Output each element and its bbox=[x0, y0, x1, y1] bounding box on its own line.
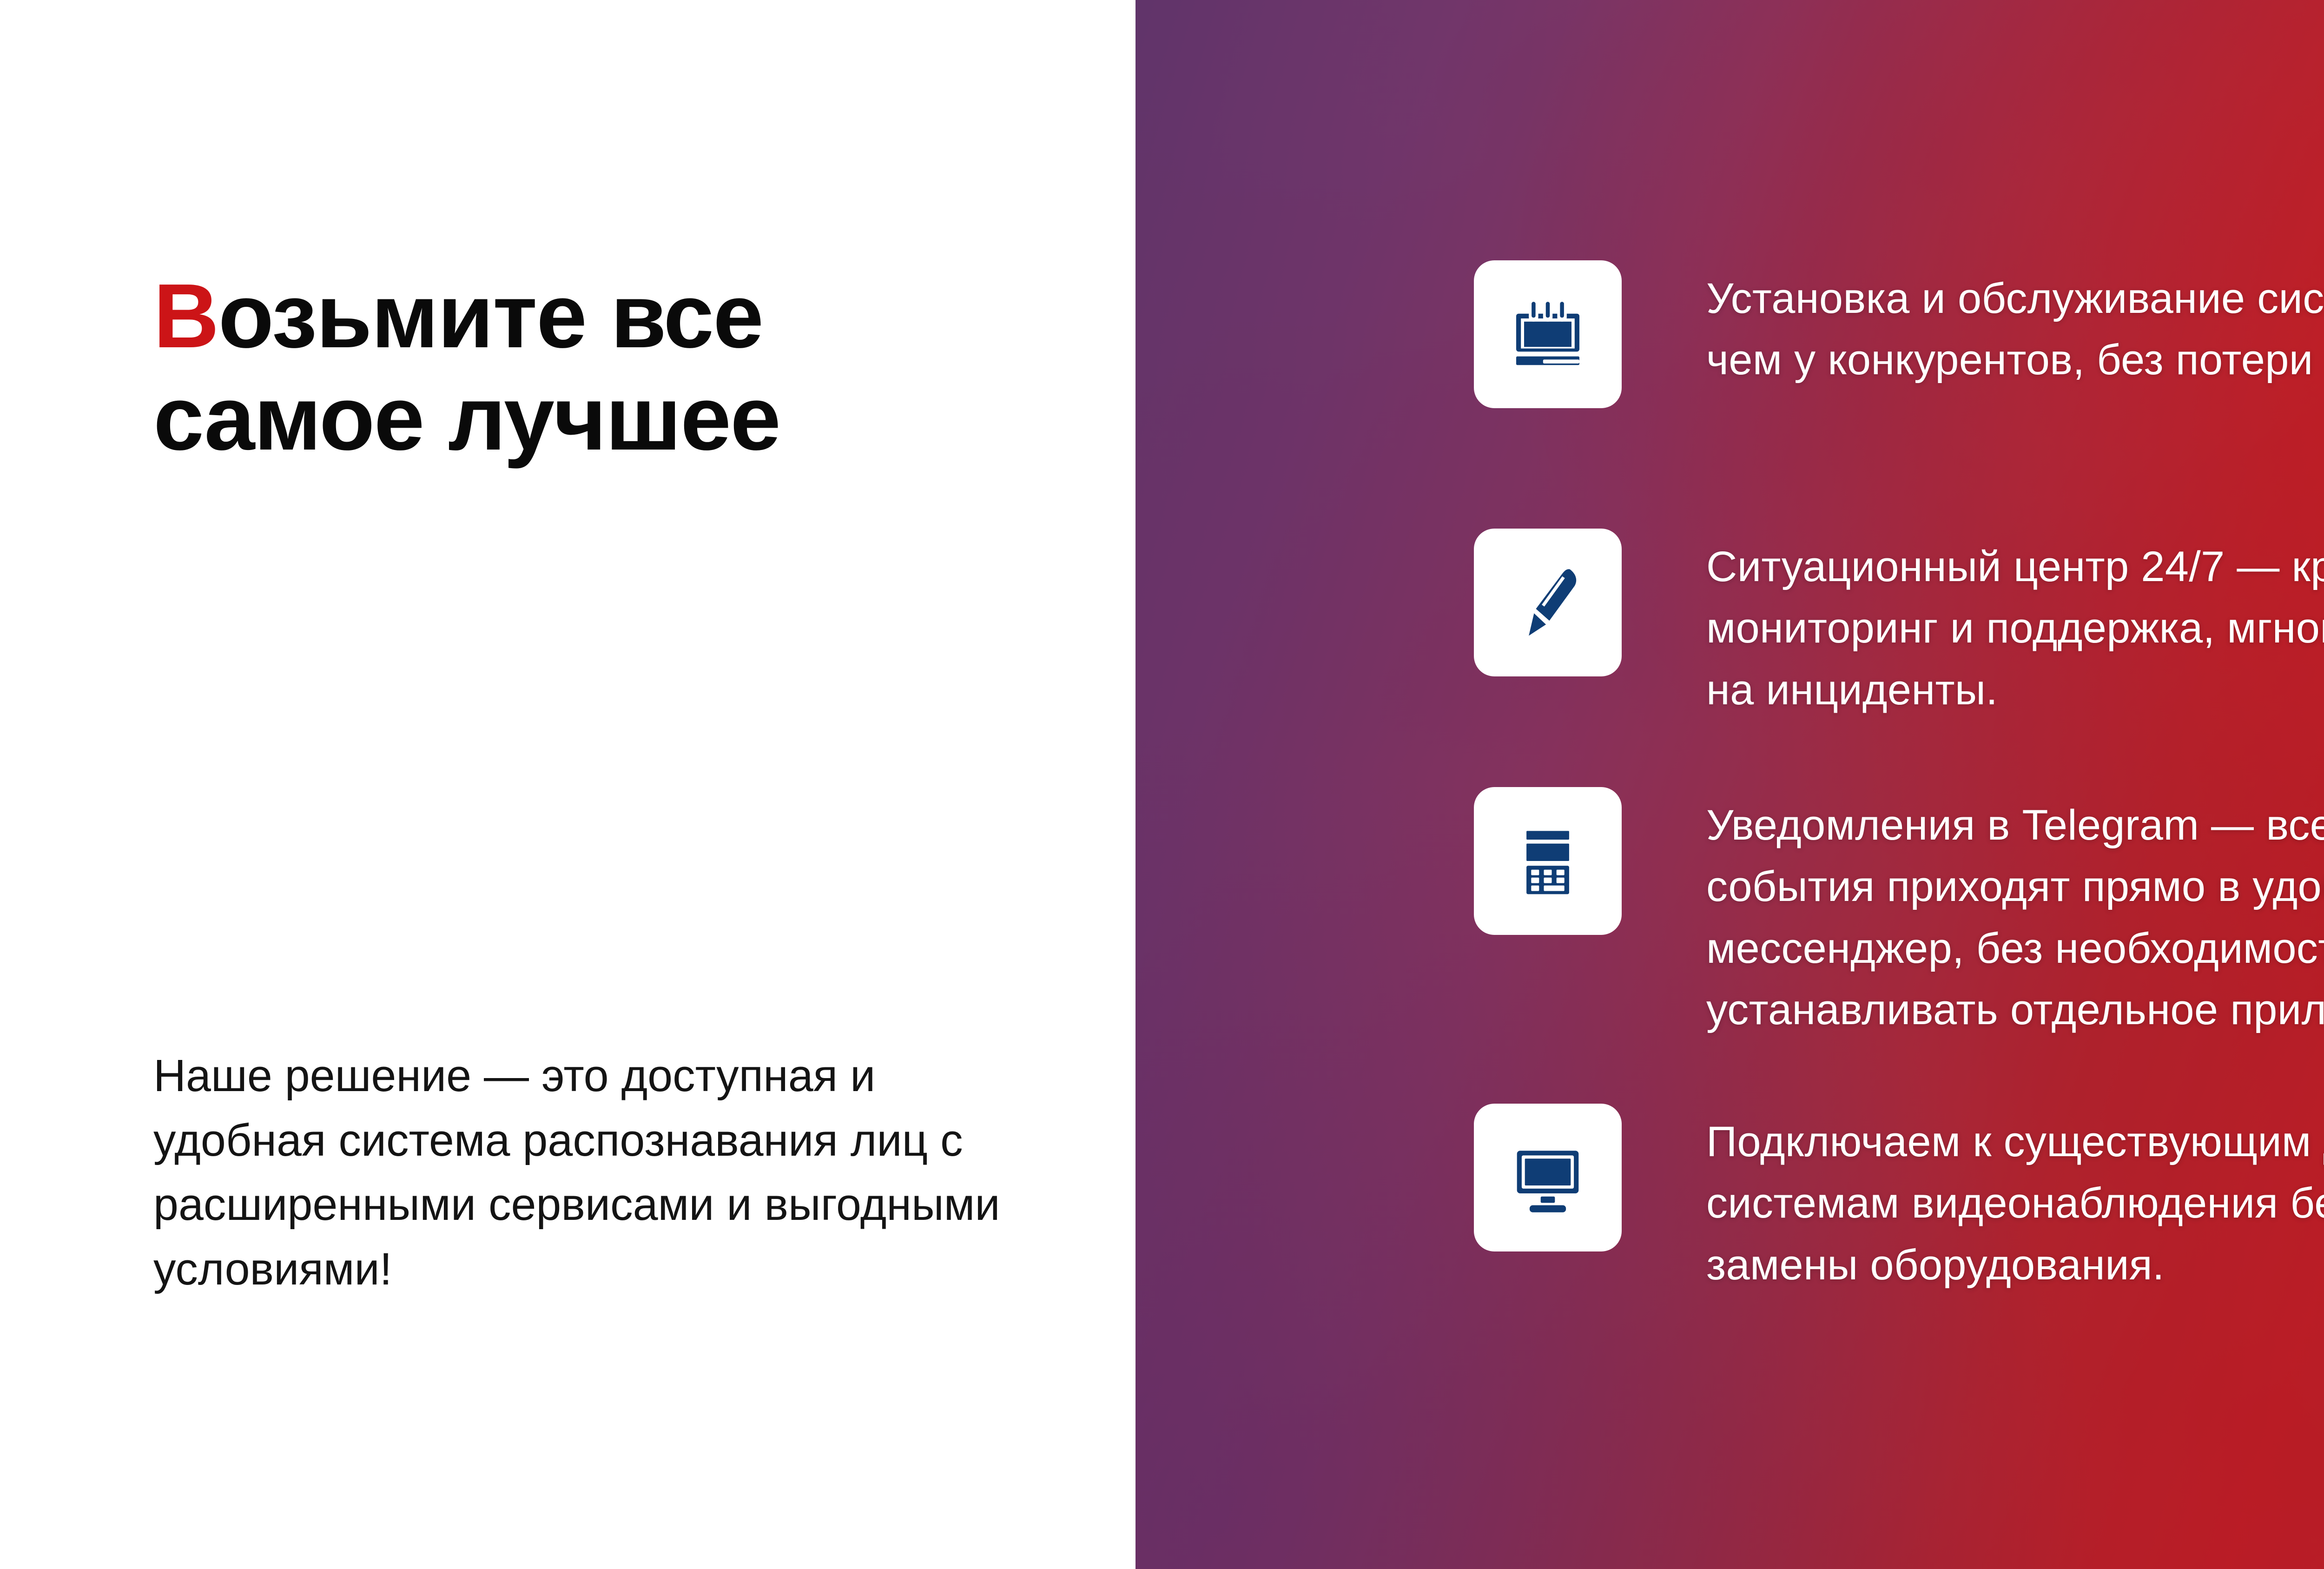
title-line-2: самое лучшее bbox=[153, 367, 1037, 470]
feature-icon-tile[interactable] bbox=[1474, 1104, 1622, 1251]
right-image-panel: Установка и обслуживание системы дешевле… bbox=[1136, 0, 2324, 1569]
calculator-icon bbox=[1508, 821, 1587, 900]
gradient-overlay-secondary bbox=[1136, 0, 2324, 1569]
left-text-column: Возьмите все самое лучшее Наше решение —… bbox=[0, 0, 1136, 1569]
monitor-icon bbox=[1508, 1138, 1587, 1217]
list-item: Установка и обслуживание системы дешевле… bbox=[1474, 260, 2324, 408]
list-item: Уведомления в Telegram — все сработки и … bbox=[1474, 787, 2324, 1041]
title-line-1-rest: озьмите все bbox=[218, 265, 763, 367]
presentation-slide: Возьмите все самое лучшее Наше решение —… bbox=[0, 0, 2324, 1569]
feature-icon-tile[interactable] bbox=[1474, 260, 1622, 408]
feature-description: Ситуационный центр 24/7 — круглосуточный… bbox=[1706, 536, 2324, 721]
list-item: Подключаем к существующим домофонам и си… bbox=[1474, 1104, 2324, 1296]
feature-icon-tile[interactable] bbox=[1474, 787, 1622, 935]
feature-description: Уведомления в Telegram — все сработки и … bbox=[1706, 794, 2324, 1041]
lead-paragraph-block: Наше решение — это доступная и удобная с… bbox=[153, 1044, 1050, 1302]
feature-icon-tile[interactable] bbox=[1474, 529, 1622, 676]
page-title: Возьмите все самое лучшее bbox=[153, 265, 1037, 469]
title-line-1: Возьмите все bbox=[153, 265, 1037, 367]
pen-icon bbox=[1508, 563, 1587, 642]
feature-description: Подключаем к существующим домофонам и си… bbox=[1706, 1111, 2324, 1296]
list-item: Ситуационный центр 24/7 — круглосуточный… bbox=[1474, 529, 2324, 721]
notebook-icon bbox=[1508, 295, 1587, 374]
lead-paragraph: Наше решение — это доступная и удобная с… bbox=[153, 1044, 1050, 1302]
title-initial-letter: В bbox=[153, 265, 218, 367]
feature-description: Установка и обслуживание системы дешевле… bbox=[1706, 268, 2324, 391]
